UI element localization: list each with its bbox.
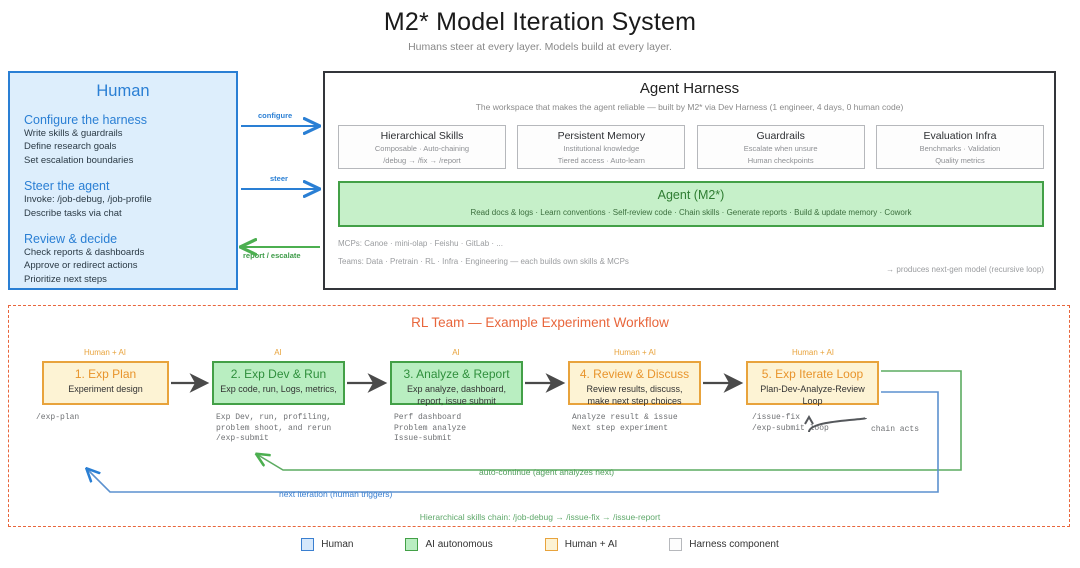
- component-line1: Benchmarks · Validation: [877, 144, 1043, 154]
- component-line1: Composable · Auto-chaining: [339, 144, 505, 154]
- step-role-label-5: Human + AI: [748, 348, 878, 357]
- legend-label: Harness component: [689, 539, 779, 550]
- chain-acts-label: chain acts: [871, 425, 919, 436]
- human-group-item: Write skills & guardrails: [24, 127, 236, 140]
- step-subtitle: Exp analyze, dashboard, report, issue su…: [392, 383, 521, 407]
- harness-mcps-line: MCPs: Canoe · mini-olap · Feishu · GitLa…: [338, 239, 503, 248]
- harness-component-guardrails[interactable]: Guardrails Escalate when unsure Human ch…: [697, 125, 865, 169]
- step-role-label-2: AI: [213, 348, 343, 357]
- human-group-item: Approve or redirect actions: [24, 259, 236, 272]
- legend-label: Human: [321, 539, 353, 550]
- legend-item-ai-autonomous: AI autonomous: [405, 538, 492, 551]
- step-title: 3. Analyze & Report: [392, 367, 521, 381]
- human-group-heading: Steer the agent: [24, 179, 236, 193]
- step-title: 2. Exp Dev & Run: [214, 367, 343, 381]
- human-group-steer: Steer the agent Invoke: /job-debug, /job…: [24, 179, 236, 220]
- human-group-item: Check reports & dashboards: [24, 246, 236, 259]
- human-panel-title: Human: [10, 82, 236, 101]
- step-title: 4. Review & Discuss: [570, 367, 699, 381]
- component-line1: Institutional knowledge: [518, 144, 684, 154]
- agent-capabilities: Read docs & logs · Learn conventions · S…: [340, 208, 1042, 217]
- workflow-step-4[interactable]: 4. Review & Discuss Review results, disc…: [568, 361, 701, 405]
- loop-label-auto-continue: auto-continue (agent analyzes next): [479, 467, 614, 477]
- human-group-heading: Review & decide: [24, 232, 236, 246]
- step-note-4: Analyze result & issue Next step experim…: [572, 413, 678, 434]
- human-panel: Human Configure the harness Write skills…: [8, 71, 238, 290]
- step-note-3: Perf dashboard Problem analyze Issue-sub…: [394, 413, 466, 445]
- component-title: Hierarchical Skills: [339, 130, 505, 142]
- step-title: 5. Exp Iterate Loop: [748, 367, 877, 381]
- step-note-5: /issue-fix /exp-submit loop: [752, 413, 829, 434]
- connector-label-steer: steer: [270, 174, 288, 183]
- harness-component-persistent-memory[interactable]: Persistent Memory Institutional knowledg…: [517, 125, 685, 169]
- legend-swatch-ai-autonomous: [405, 538, 418, 551]
- legend: Human AI autonomous Human + AI Harness c…: [0, 538, 1080, 551]
- page-subtitle: Humans steer at every layer. Models buil…: [0, 41, 1080, 53]
- step-note-1: /exp-plan: [36, 413, 79, 424]
- component-title: Evaluation Infra: [877, 130, 1043, 142]
- step-role-label-4: Human + AI: [570, 348, 700, 357]
- step-subtitle: Exp code, run, Logs, metrics,: [214, 383, 343, 395]
- human-group-review: Review & decide Check reports & dashboar…: [24, 232, 236, 286]
- human-group-item: Set escalation boundaries: [24, 154, 236, 167]
- workflow-step-1[interactable]: 1. Exp Plan Experiment design: [42, 361, 169, 405]
- harness-component-evaluation-infra[interactable]: Evaluation Infra Benchmarks · Validation…: [876, 125, 1044, 169]
- workflow-step-2[interactable]: 2. Exp Dev & Run Exp code, run, Logs, me…: [212, 361, 345, 405]
- agent-harness-panel: Agent Harness The workspace that makes t…: [323, 71, 1056, 290]
- component-line2: Quality metrics: [877, 156, 1043, 166]
- workflow-step-5[interactable]: 5. Exp Iterate Loop Plan-Dev-Analyze-Rev…: [746, 361, 879, 405]
- agent-title: Agent (M2*): [340, 188, 1042, 202]
- human-group-item: Invoke: /job-debug, /job-profile: [24, 193, 236, 206]
- harness-subtitle: The workspace that makes the agent relia…: [325, 102, 1054, 112]
- workflow-step-3[interactable]: 3. Analyze & Report Exp analyze, dashboa…: [390, 361, 523, 405]
- legend-item-human: Human: [301, 538, 353, 551]
- harness-teams-line: Teams: Data · Pretrain · RL · Infra · En…: [338, 257, 629, 266]
- step-title: 1. Exp Plan: [44, 367, 167, 381]
- component-title: Persistent Memory: [518, 130, 684, 142]
- step-role-label-1: Human + AI: [40, 348, 170, 357]
- rl-section-title: RL Team — Example Experiment Workflow: [0, 315, 1080, 330]
- component-line1: Escalate when unsure: [698, 144, 864, 154]
- harness-title: Agent Harness: [325, 80, 1054, 97]
- connector-label-configure: configure: [258, 111, 292, 120]
- rl-team-section: [8, 305, 1070, 527]
- component-line2: Human checkpoints: [698, 156, 864, 166]
- component-line2: Tiered access · Auto-learn: [518, 156, 684, 166]
- connector-label-report-escalate: report / escalate: [243, 251, 301, 260]
- human-group-item: Describe tasks via chat: [24, 207, 236, 220]
- agent-box[interactable]: Agent (M2*) Read docs & logs · Learn con…: [338, 181, 1044, 227]
- human-group-item: Define research goals: [24, 140, 236, 153]
- loop-label-next-iteration: next iteration (human triggers): [279, 489, 392, 499]
- component-line2: /debug → /fix → /report: [339, 156, 505, 166]
- legend-label: Human + AI: [565, 539, 618, 550]
- skills-chain-footer: Hierarchical skills chain: /job-debug → …: [0, 512, 1080, 522]
- step-subtitle: Plan-Dev-Analyze-Review Loop: [748, 383, 877, 407]
- step-role-label-3: AI: [391, 348, 521, 357]
- legend-item-human-plus-ai: Human + AI: [545, 538, 618, 551]
- harness-components-row: Hierarchical Skills Composable · Auto-ch…: [338, 125, 1044, 169]
- human-group-configure: Configure the harness Write skills & gua…: [24, 113, 236, 167]
- legend-label: AI autonomous: [425, 539, 492, 550]
- page-title: M2* Model Iteration System: [0, 8, 1080, 37]
- component-title: Guardrails: [698, 130, 864, 142]
- harness-produces-note: → produces next-gen model (recursive loo…: [886, 265, 1044, 274]
- human-group-item: Prioritize next steps: [24, 273, 236, 286]
- step-subtitle: Review results, discuss, make next step …: [570, 383, 699, 407]
- legend-item-harness-component: Harness component: [669, 538, 779, 551]
- legend-swatch-harness-component: [669, 538, 682, 551]
- step-note-2: Exp Dev, run, profiling, problem shoot, …: [216, 413, 331, 445]
- legend-swatch-human: [301, 538, 314, 551]
- human-group-heading: Configure the harness: [24, 113, 236, 127]
- step-subtitle: Experiment design: [44, 383, 167, 395]
- legend-swatch-human-plus-ai: [545, 538, 558, 551]
- harness-component-hierarchical-skills[interactable]: Hierarchical Skills Composable · Auto-ch…: [338, 125, 506, 169]
